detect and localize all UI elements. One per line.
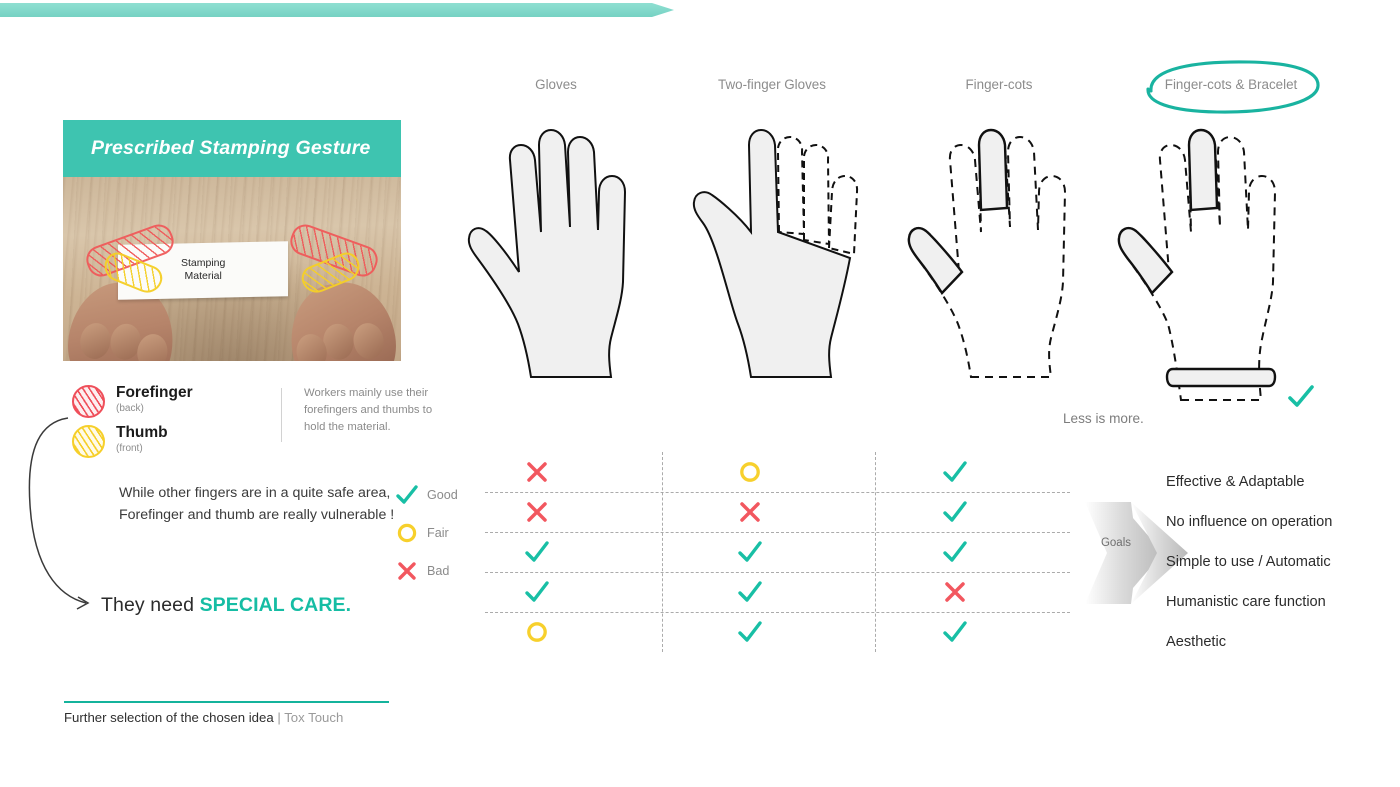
evaluation-matrix (485, 452, 1070, 652)
rating-legend-label-fair: Fair (427, 526, 449, 540)
matrix-mark-good (730, 575, 770, 609)
matrix-hline (485, 572, 1070, 573)
prescribed-gesture-card: Prescribed Stamping Gesture StampingMate… (63, 120, 401, 361)
conclusion-text: They need SPECIAL CARE. (101, 594, 351, 617)
less-is-more-caption: Less is more. (1063, 411, 1144, 426)
matrix-vline (662, 452, 663, 652)
legend-sub-forefinger: (back) (116, 403, 193, 414)
footer-project: Tox Touch (284, 710, 343, 725)
legend-divider (281, 388, 282, 442)
vulnerability-paragraph: While other fingers are in a quite safe … (119, 482, 409, 527)
matrix-hline (485, 612, 1070, 613)
glove-illustration-gloves (462, 112, 662, 380)
matrix-mark-bad (935, 575, 975, 609)
matrix-mark-bad (730, 495, 770, 529)
stamping-gesture-photo: StampingMaterial (63, 177, 401, 361)
rating-legend-row-fair: Fair (394, 519, 458, 546)
rating-legend-label-bad: Bad (427, 564, 449, 578)
goals-arrow-label: Goals (1086, 537, 1146, 549)
matrix-hline (485, 532, 1070, 533)
matrix-mark-good (935, 615, 975, 649)
column-header-finger-cots: Finger-cots (923, 77, 1075, 92)
rating-legend: Good Fair Bad (394, 481, 458, 595)
matrix-mark-good (935, 455, 975, 489)
card-header: Prescribed Stamping Gesture (63, 120, 401, 177)
goal-item: Effective & Adaptable (1166, 462, 1396, 502)
footer-separator: | (274, 710, 285, 725)
matrix-mark-good (935, 535, 975, 569)
legend-note: Workers mainly use their forefingers and… (304, 385, 454, 436)
footer-divider (64, 701, 389, 703)
matrix-mark-bad (517, 455, 557, 489)
highlight-ellipse-icon (1139, 58, 1323, 116)
footer-main: Further selection of the chosen idea (64, 710, 274, 725)
rating-legend-label-good: Good (427, 488, 458, 502)
matrix-mark-good (730, 615, 770, 649)
stamping-material-line2: Material (184, 271, 221, 283)
selected-check-icon (1286, 383, 1316, 411)
matrix-mark-fair (730, 455, 770, 489)
less-is-more-arrow-icon (0, 0, 674, 20)
check-icon (394, 484, 420, 506)
column-header-gloves: Gloves (480, 77, 632, 92)
hand-right-illustration (283, 276, 401, 361)
rating-legend-row-bad: Bad (394, 557, 458, 584)
matrix-mark-good (730, 535, 770, 569)
goal-item: No influence on operation (1166, 502, 1396, 542)
matrix-hline (485, 492, 1070, 493)
glove-illustration-finger-cots-bracelet (1112, 112, 1322, 404)
curved-arrow-icon (20, 400, 125, 625)
goal-item: Simple to use / Automatic (1166, 542, 1396, 582)
column-header-two-finger-gloves: Two-finger Gloves (696, 77, 848, 92)
goal-item: Humanistic care function (1166, 582, 1396, 622)
legend-label-forefinger: Forefinger (116, 385, 193, 402)
matrix-mark-good (517, 575, 557, 609)
conclusion-emphasis: SPECIAL CARE. (200, 594, 352, 616)
matrix-mark-fair (517, 615, 557, 649)
glove-illustration-two-finger (682, 112, 882, 380)
matrix-mark-bad (517, 495, 557, 529)
footer-caption: Further selection of the chosen idea | T… (64, 710, 343, 725)
goals-list: Effective & Adaptable No influence on op… (1166, 462, 1396, 662)
stamping-material-line1: Stamping (181, 257, 225, 269)
glove-illustration-finger-cots (902, 112, 1102, 380)
matrix-mark-good (517, 535, 557, 569)
cross-icon (394, 560, 420, 582)
goal-item: Aesthetic (1166, 622, 1396, 662)
matrix-vline (875, 452, 876, 652)
rating-legend-row-good: Good (394, 481, 458, 508)
card-header-title: Prescribed Stamping Gesture (63, 137, 371, 160)
circle-icon (394, 522, 420, 544)
matrix-mark-good (935, 495, 975, 529)
